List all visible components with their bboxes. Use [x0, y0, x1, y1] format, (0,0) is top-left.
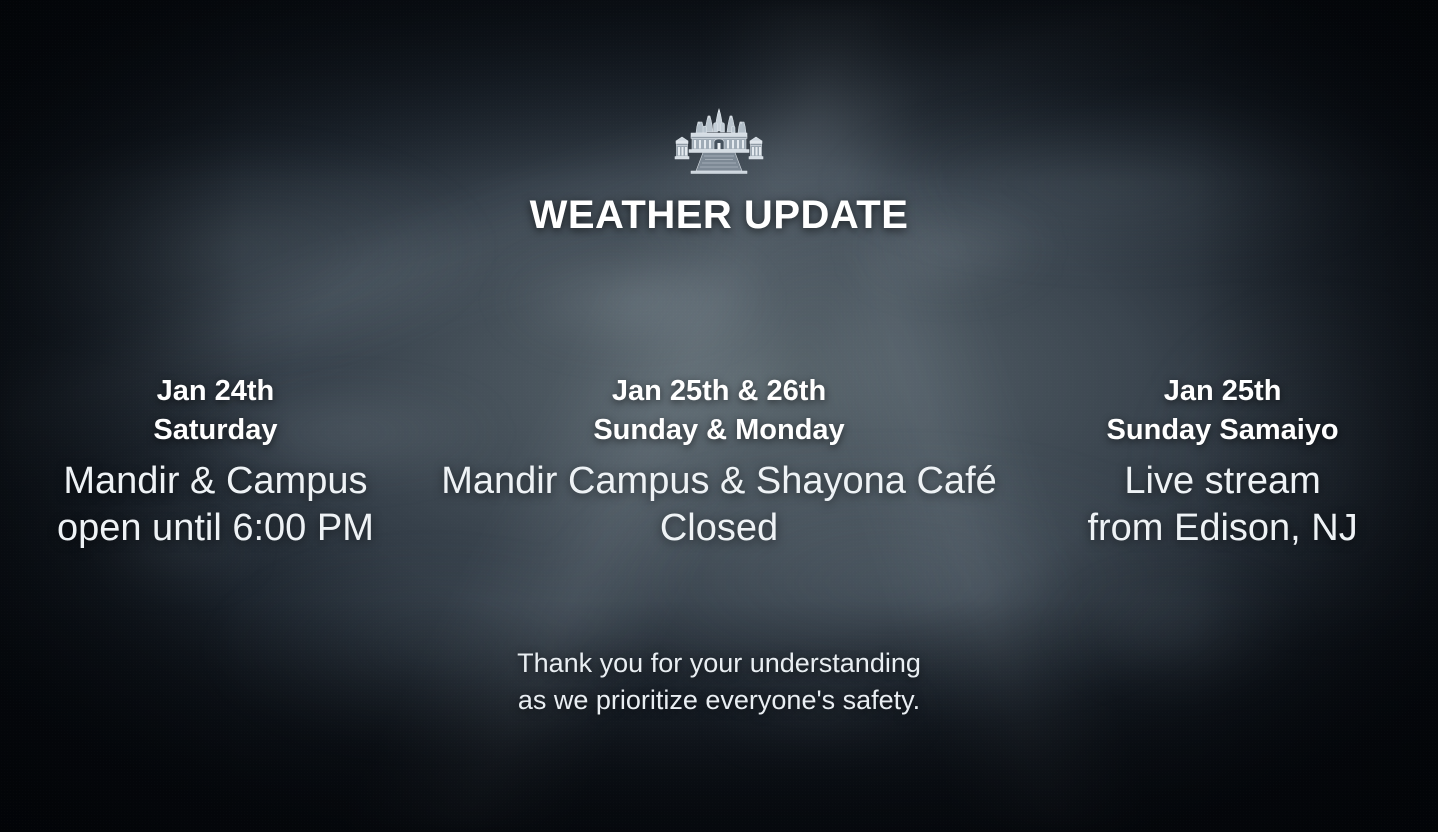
column-body: Mandir & Campus open until 6:00 PM [4, 458, 427, 551]
page-title: WEATHER UPDATE [0, 193, 1438, 238]
column-date: Jan 25th & 26th Sunday & Monday [435, 372, 1003, 449]
column-date: Jan 24th Saturday [4, 372, 427, 449]
mandir-icon [667, 108, 771, 174]
column-date-line: Jan 24th [4, 372, 427, 411]
info-column-sunday-samaiyo: Jan 25th Sunday Samaiyo Live stream from… [1007, 372, 1438, 552]
column-body-line-2: open until 6:00 PM [4, 505, 427, 552]
slide-content: WEATHER UPDATE Jan 24th Saturday Mandir … [0, 0, 1438, 832]
info-column-saturday: Jan 24th Saturday Mandir & Campus open u… [0, 372, 431, 552]
column-body-line-1: Live stream [1011, 458, 1434, 505]
column-day-line: Sunday & Monday [435, 411, 1003, 450]
weather-update-slide: WEATHER UPDATE Jan 24th Saturday Mandir … [0, 0, 1438, 832]
column-body-line-1: Mandir Campus & Shayona Café [435, 458, 1003, 505]
column-body-line-2: Closed [435, 505, 1003, 552]
column-date-line: Jan 25th [1011, 372, 1434, 411]
column-date: Jan 25th Sunday Samaiyo [1011, 372, 1434, 449]
column-body-line-2: from Edison, NJ [1011, 505, 1434, 552]
closing-message: Thank you for your understanding as we p… [0, 645, 1438, 719]
info-column-sunday-monday: Jan 25th & 26th Sunday & Monday Mandir C… [431, 372, 1007, 552]
column-body-line-1: Mandir & Campus [4, 458, 427, 505]
info-columns: Jan 24th Saturday Mandir & Campus open u… [0, 372, 1438, 552]
column-body: Live stream from Edison, NJ [1011, 458, 1434, 551]
closing-message-line-1: Thank you for your understanding [0, 645, 1438, 682]
column-date-line: Jan 25th & 26th [435, 372, 1003, 411]
column-day-line: Sunday Samaiyo [1011, 411, 1434, 450]
closing-message-line-2: as we prioritize everyone's safety. [0, 682, 1438, 719]
column-day-line: Saturday [4, 411, 427, 450]
column-body: Mandir Campus & Shayona Café Closed [435, 458, 1003, 551]
